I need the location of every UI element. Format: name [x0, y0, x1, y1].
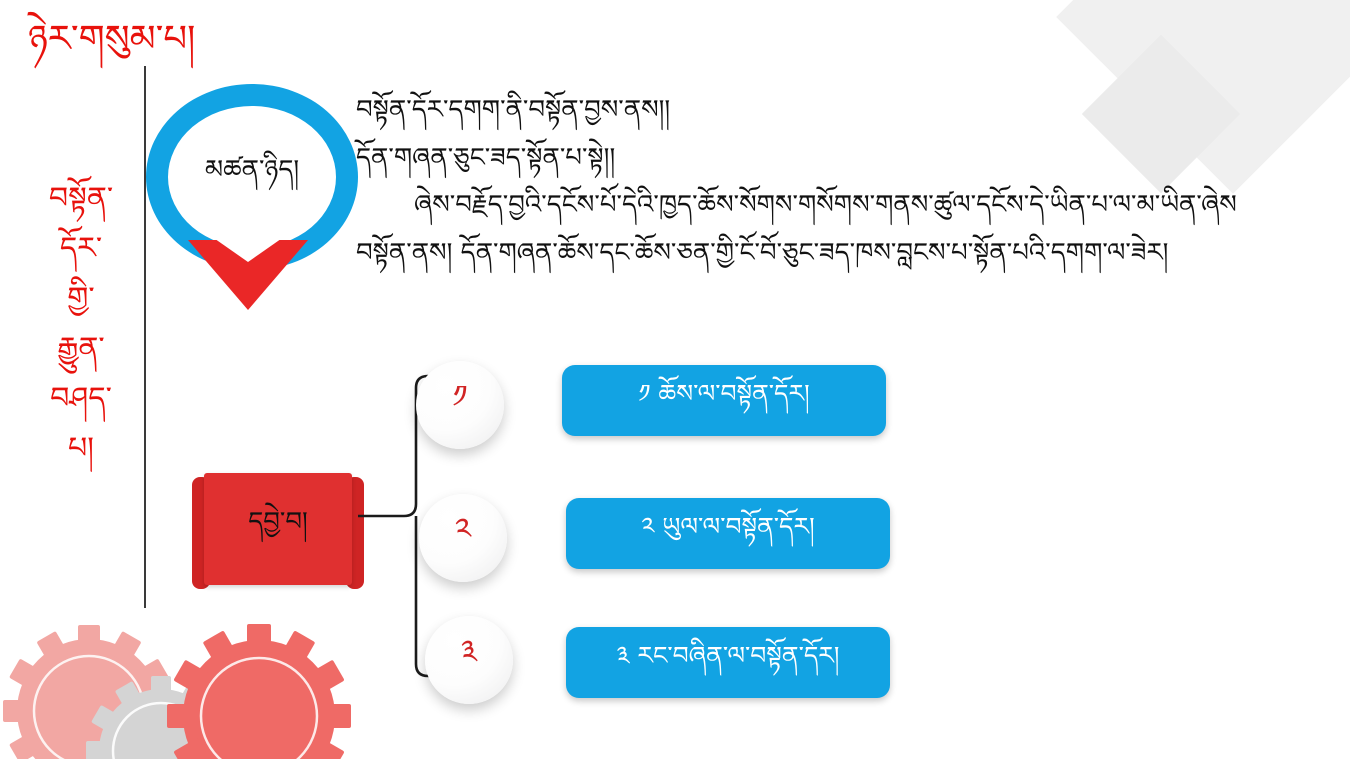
- page-title: ཉེར་གསུམ་པ།: [28, 16, 195, 62]
- division-numeral-circle-1[interactable]: ༡: [416, 361, 504, 449]
- divisions-banner: དབྱེ་བ།: [192, 473, 364, 585]
- division-numeral: ༣: [461, 617, 477, 704]
- division-numeral-circle-3[interactable]: ༣: [425, 616, 513, 704]
- gear-decoration: [0, 603, 384, 759]
- divisions-banner-label: དབྱེ་བ།: [204, 473, 352, 585]
- division-item-3[interactable]: ༣ རང་བཞིན་ལ་བསྟོན་དོར།: [566, 627, 890, 698]
- sidebar-syllable: གྱི་: [26, 284, 136, 314]
- division-numeral: ༡: [452, 362, 467, 449]
- division-item-2[interactable]: ༢ ཡུལ་ལ་བསྟོན་དོར།: [566, 498, 890, 569]
- division-item-1[interactable]: ༡ ཆོས་ལ་བསྟོན་དོར།: [562, 365, 886, 436]
- gear-red-icon: [167, 624, 351, 759]
- sidebar-syllable: བཤད་: [26, 384, 136, 414]
- sidebar-syllable: རྒྱུན་: [26, 334, 136, 364]
- gear-light-icon: [3, 625, 175, 759]
- body-line: དོན་གཞན་ཅུང་ཟད་སྟོན་པ་སྟེ།།: [356, 140, 1342, 178]
- body-paragraph: བསྟོན་དོར་དགག་ནི་བསྟོན་བྱས་ནས།། དོན་གཞན་…: [356, 92, 1342, 283]
- sidebar-syllable: པ།: [26, 434, 136, 464]
- sidebar-syllable: བསྟོན་: [26, 184, 136, 214]
- gear-gray-icon: [86, 676, 236, 759]
- definition-pin-badge: མཚན་ཉིད།: [146, 84, 338, 276]
- definition-badge-label: མཚན་ཉིད།: [168, 106, 336, 248]
- sidebar-vertical-heading: བསྟོན་ དོར་ གྱི་ རྒྱུན་ བཤད་ པ།: [26, 184, 136, 484]
- body-line: བསྟོན་དོར་དགག་ནི་བསྟོན་བྱས་ནས།།: [356, 92, 1342, 130]
- division-numeral: ༢: [455, 495, 471, 582]
- sidebar-syllable: དོར་: [26, 234, 136, 264]
- division-item-label: ༢ ཡུལ་ལ་བསྟོན་དོར།: [641, 498, 814, 569]
- slide-canvas: ཉེར་གསུམ་པ། བསྟོན་ དོར་ གྱི་ རྒྱུན་ བཤད་…: [0, 0, 1350, 759]
- division-item-label: ༣ རང་བཞིན་ལ་བསྟོན་དོར།: [617, 627, 840, 698]
- body-line: བསྟོན་ནས། དོན་གཞན་ཆོས་དང་ཆོས་ཅན་གྱི་ངོ་བ…: [356, 235, 1342, 273]
- division-numeral-circle-2[interactable]: ༢: [419, 494, 507, 582]
- body-line: ཞེས་བརྗོད་བྱའི་དངོས་པོ་དེའི་ཁྱད་ཆོས་སོགས…: [356, 187, 1342, 225]
- division-item-label: ༡ ཆོས་ལ་བསྟོན་དོར།: [638, 365, 809, 436]
